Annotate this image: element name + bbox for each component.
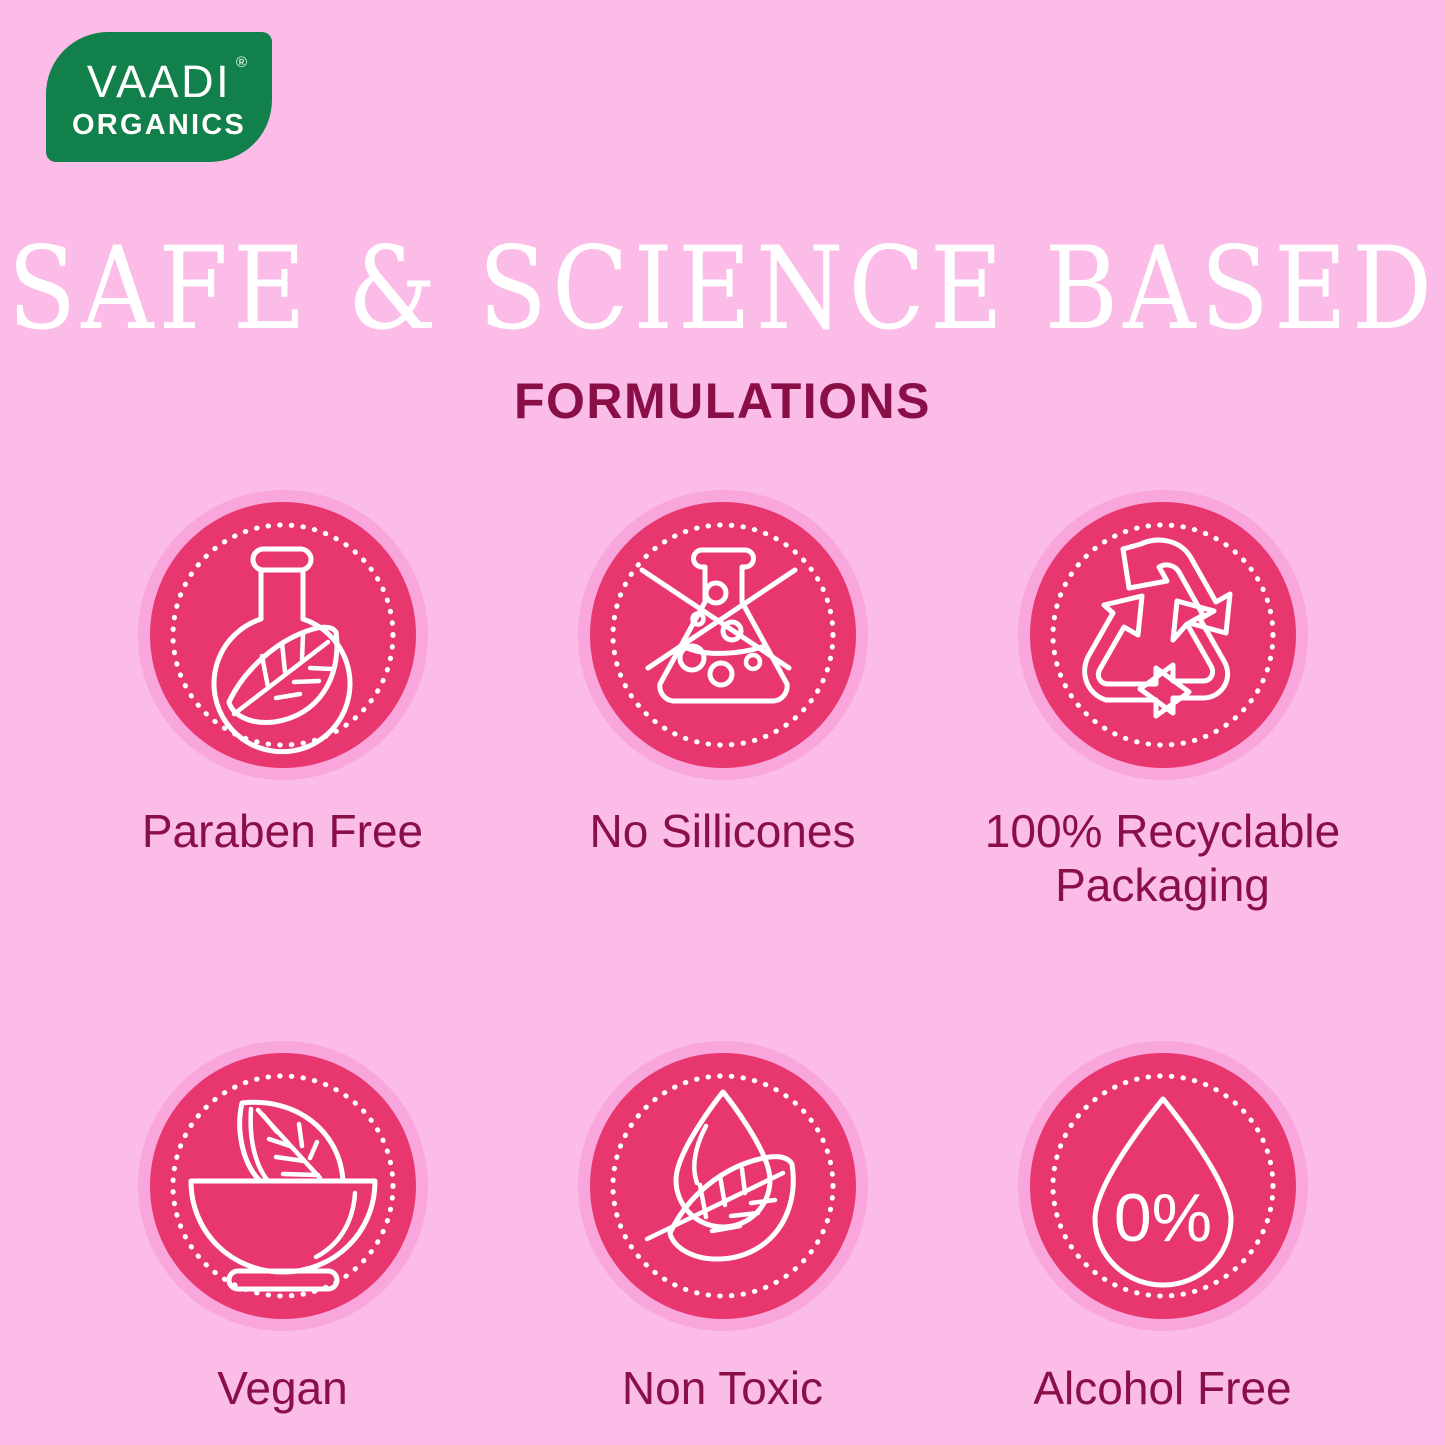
feature-item-non-toxic: Non Toxic — [503, 1041, 943, 1415]
brand-logo: VAADI® ORGANICS — [46, 32, 272, 162]
registered-trademark-icon: ® — [236, 55, 247, 70]
feature-row-bottom: Vegan Non T — [0, 1041, 1445, 1415]
page-title: SAFE & SCIENCE BASED — [0, 232, 1445, 346]
feature-label: 100% Recyclable Packaging — [985, 804, 1340, 913]
badge-paraben-free — [138, 490, 428, 780]
crossed-out-flask-icon — [590, 502, 856, 768]
badge-disc: 0% — [1030, 1053, 1296, 1319]
feature-label-line2: Packaging — [1055, 859, 1270, 911]
feature-item-recyclable-packaging: 100% Recyclable Packaging — [943, 490, 1383, 913]
feature-label-line1: 100% Recyclable — [985, 805, 1340, 857]
badge-disc — [150, 502, 416, 768]
badge-vegan — [138, 1041, 428, 1331]
feature-label: Paraben Free — [142, 804, 423, 858]
feature-row-top: Paraben Free — [0, 490, 1445, 913]
badge-alcohol-free: 0% — [1018, 1041, 1308, 1331]
feature-label: Non Toxic — [622, 1361, 823, 1415]
badge-recyclable-packaging — [1018, 490, 1308, 780]
badge-no-sillicones — [578, 490, 868, 780]
badge-disc — [1030, 502, 1296, 768]
badge-non-toxic — [578, 1041, 868, 1331]
feature-label: No Sillicones — [590, 804, 856, 858]
flask-leaf-icon — [150, 502, 416, 768]
brand-name-secondary: ORGANICS — [72, 111, 246, 140]
feature-label: Vegan — [217, 1361, 347, 1415]
droplet-leaf-icon — [590, 1053, 856, 1319]
feature-label: Alcohol Free — [1033, 1361, 1291, 1415]
feature-item-alcohol-free: 0% Alcohol Free — [943, 1041, 1383, 1415]
feature-item-paraben-free: Paraben Free — [63, 490, 503, 858]
brand-name-primary: VAADI® — [87, 59, 231, 104]
feature-grid: Paraben Free — [0, 490, 1445, 1415]
recycle-icon — [1030, 502, 1296, 768]
brand-name-primary-text: VAADI — [87, 56, 231, 107]
feature-item-vegan: Vegan — [63, 1041, 503, 1415]
droplet-percent-text: 0% — [1113, 1180, 1211, 1256]
feature-item-no-sillicones: No Sillicones — [503, 490, 943, 858]
droplet-zero-percent-icon: 0% — [1030, 1053, 1296, 1319]
badge-disc — [590, 502, 856, 768]
bowl-leaf-icon — [150, 1053, 416, 1319]
badge-disc — [590, 1053, 856, 1319]
badge-disc — [150, 1053, 416, 1319]
page-subtitle: FORMULATIONS — [0, 376, 1445, 426]
